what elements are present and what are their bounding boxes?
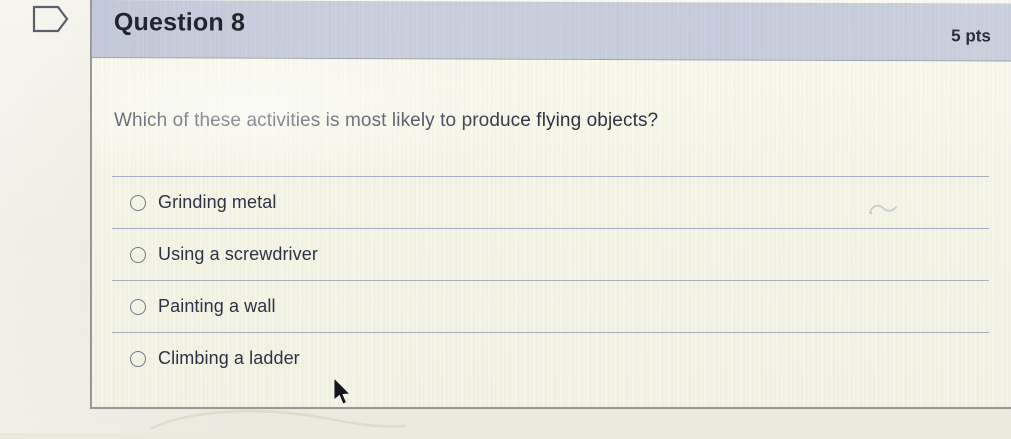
answer-option-1[interactable]: Using a screwdriver: [112, 228, 989, 280]
question-card: Question 8 5 pts Which of these activiti…: [90, 0, 1011, 409]
radio-button-unchecked-icon[interactable]: [130, 351, 146, 367]
answer-option-0[interactable]: Grinding metal: [112, 176, 989, 228]
answer-options-list: Grinding metal Using a screwdriver Paint…: [112, 176, 989, 384]
answer-option-label: Grinding metal: [158, 192, 276, 213]
radio-button-unchecked-icon[interactable]: [130, 195, 146, 211]
answer-option-label: Climbing a ladder: [158, 348, 300, 369]
radio-button-unchecked-icon[interactable]: [130, 247, 146, 263]
answer-option-label: Painting a wall: [158, 296, 276, 317]
question-header-band: Question 8 5 pts: [92, 0, 1011, 62]
question-body: Which of these activities is most likely…: [92, 58, 1011, 409]
radio-button-unchecked-icon[interactable]: [130, 299, 146, 315]
answer-option-2[interactable]: Painting a wall: [112, 280, 989, 332]
answer-option-label: Using a screwdriver: [158, 244, 318, 265]
question-prompt-text: Which of these activities is most likely…: [114, 110, 658, 132]
page-title: Question 8: [114, 8, 245, 38]
bookmark-tag-icon[interactable]: [32, 4, 70, 34]
points-badge: 5 pts: [951, 26, 991, 46]
answer-option-3[interactable]: Climbing a ladder: [112, 332, 989, 384]
